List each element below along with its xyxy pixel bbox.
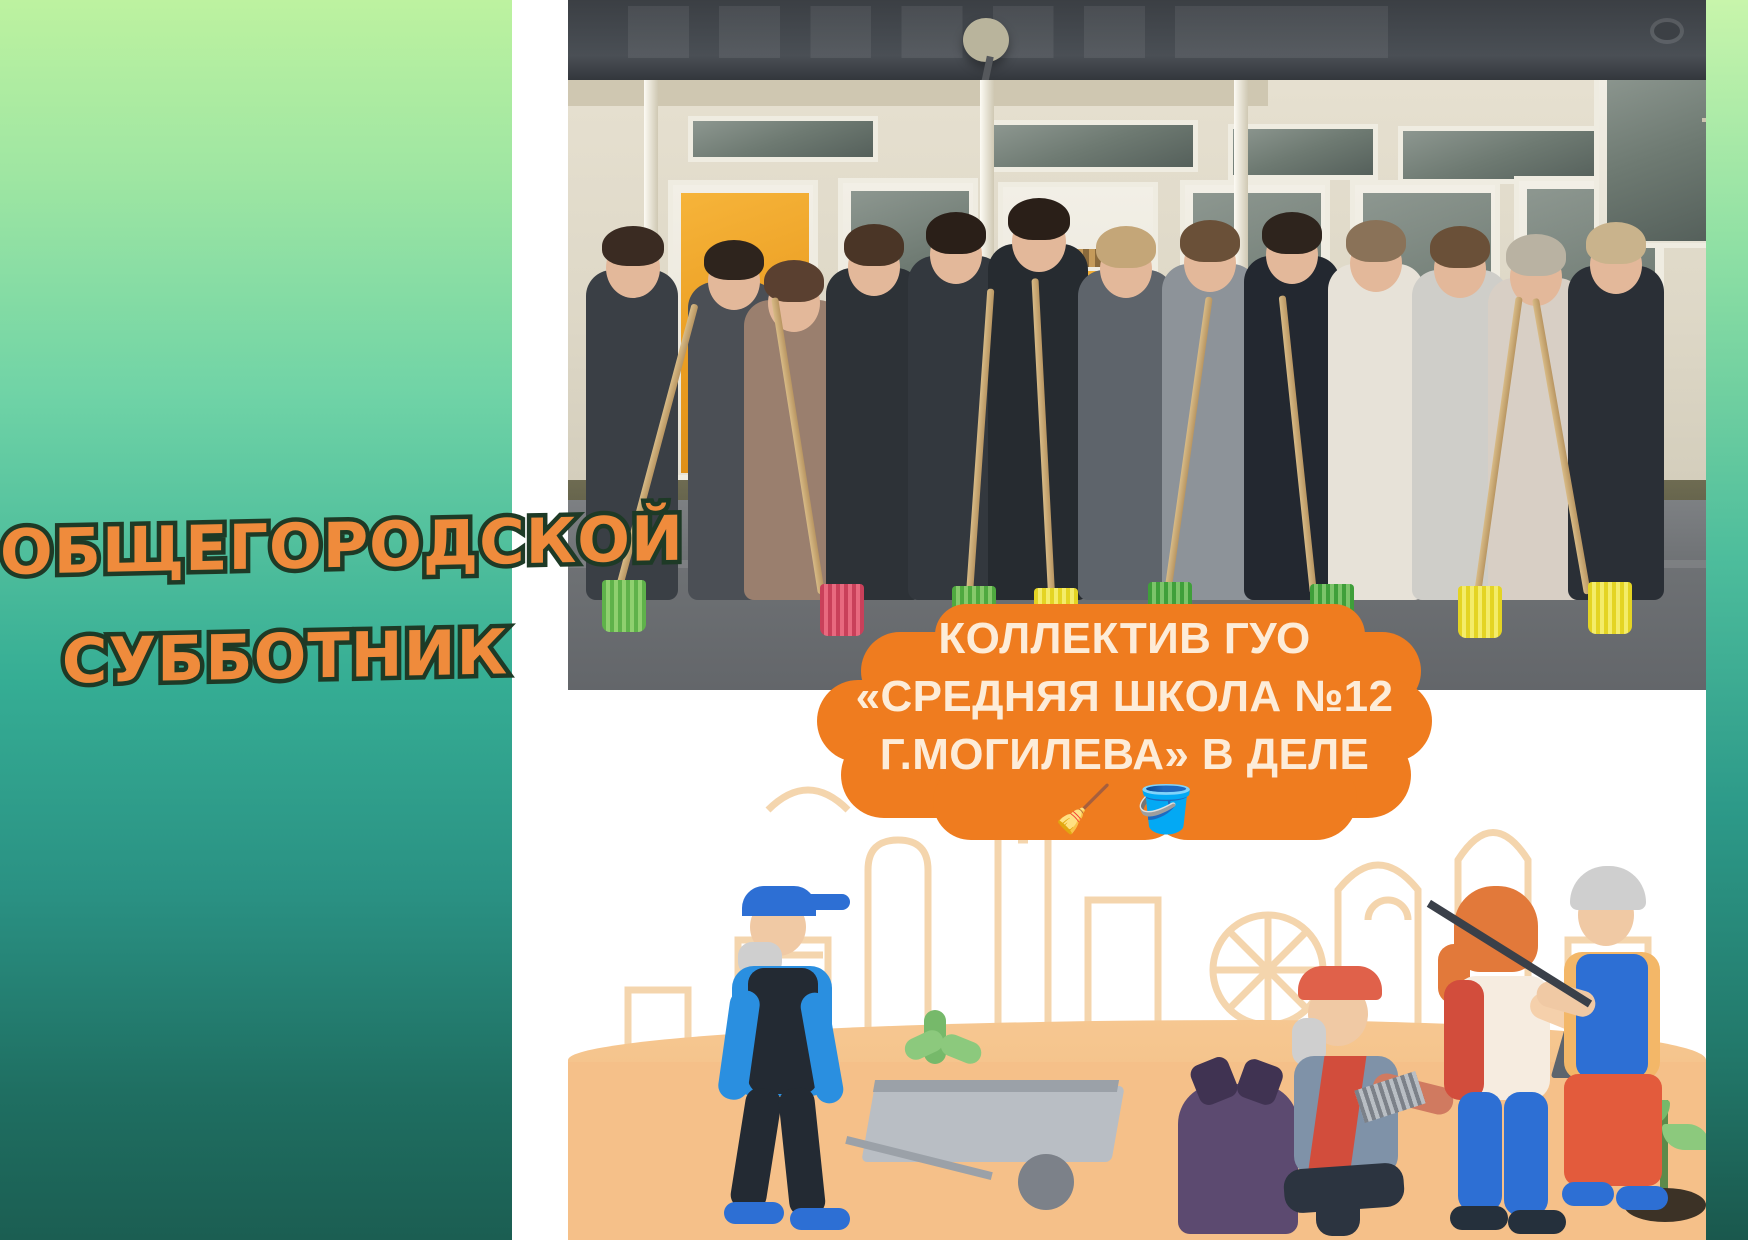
photo-wing-window xyxy=(1594,58,1706,248)
photo-transom-window xyxy=(688,116,878,162)
figure-vest xyxy=(1444,980,1484,1100)
figure-shoe xyxy=(724,1202,784,1224)
bucket-icon: 🪣 xyxy=(1137,783,1194,835)
photo-rake-head xyxy=(602,580,646,632)
right-gradient-strip xyxy=(1706,0,1748,1240)
caption-line-3: Г.МОГИЛЕВА» В ДЕЛЕ xyxy=(817,726,1432,784)
photo-person-hair xyxy=(1506,234,1566,276)
figure-leg xyxy=(777,1086,826,1217)
photo-person-hair xyxy=(1346,220,1406,262)
wheelbarrow-rim xyxy=(873,1080,1119,1092)
photo-security-camera-icon xyxy=(1654,22,1680,40)
photo-person xyxy=(1328,264,1424,600)
photo-person-hair xyxy=(844,224,904,266)
poster-title: ОБЩЕГОРОДСКОЙ СУББОТНИК xyxy=(0,486,570,718)
photo-person-hair xyxy=(926,212,986,254)
photo-fascia-sign xyxy=(568,0,1706,80)
figure-hat-icon xyxy=(1298,966,1382,1000)
figure-trousers xyxy=(1564,1074,1662,1186)
photo-person-hair xyxy=(764,260,824,302)
group-photo xyxy=(568,0,1706,690)
photo-person xyxy=(1078,270,1174,600)
figure-cap-brim xyxy=(804,894,850,910)
photo-broom-head xyxy=(1588,582,1632,634)
photo-person-hair xyxy=(1262,212,1322,254)
figure-hair xyxy=(1570,866,1646,910)
figure-shoe xyxy=(1450,1206,1508,1230)
photo-transom-window xyxy=(988,120,1198,172)
wheelbarrow-wheel xyxy=(1018,1154,1074,1210)
caption-text: КОЛЛЕКТИВ ГУО «СРЕДНЯЯ ШКОЛА №12 Г.МОГИЛ… xyxy=(817,610,1432,784)
title-line-1: ОБЩЕГОРОДСКОЙ xyxy=(0,486,570,608)
figure-leg xyxy=(729,1086,784,1212)
photo-person-hair xyxy=(1180,220,1240,262)
figure-shoe xyxy=(1616,1186,1668,1210)
illustration-figure-sweeping-woman xyxy=(1518,850,1706,1240)
photo-person-hair xyxy=(1586,222,1646,264)
caption-icons: 🧹 🪣 xyxy=(817,784,1432,834)
figure-leg xyxy=(1458,1092,1502,1212)
photo-person-hair xyxy=(1008,198,1070,240)
photo-window-glass xyxy=(1607,71,1706,241)
photo-transom-window xyxy=(1228,124,1378,180)
figure-shoe xyxy=(1562,1182,1614,1206)
photo-person-hair xyxy=(602,226,664,266)
photo-person-hair xyxy=(1096,226,1156,268)
title-line-2: СУББОТНИК xyxy=(0,596,570,718)
photo-person-hair xyxy=(704,240,764,280)
illustration-figure-planting-man xyxy=(1238,1020,1438,1240)
caption-line-2: «СРЕДНЯЯ ШКОЛА №12 xyxy=(817,668,1432,726)
photo-canopy xyxy=(568,80,1268,106)
caption-banner: КОЛЛЕКТИВ ГУО «СРЕДНЯЯ ШКОЛА №12 Г.МОГИЛ… xyxy=(817,596,1432,842)
broom-icon: 🧹 xyxy=(1055,783,1112,835)
caption-line-1: КОЛЛЕКТИВ ГУО xyxy=(817,610,1432,668)
photo-person-hair xyxy=(1430,226,1490,268)
poster-canvas: КОЛЛЕКТИВ ГУО «СРЕДНЯЯ ШКОЛА №12 Г.МОГИЛ… xyxy=(0,0,1748,1240)
photo-broom-head xyxy=(1458,586,1502,638)
figure-shoe xyxy=(790,1208,850,1230)
illustration-wheelbarrow xyxy=(868,1050,1128,1230)
